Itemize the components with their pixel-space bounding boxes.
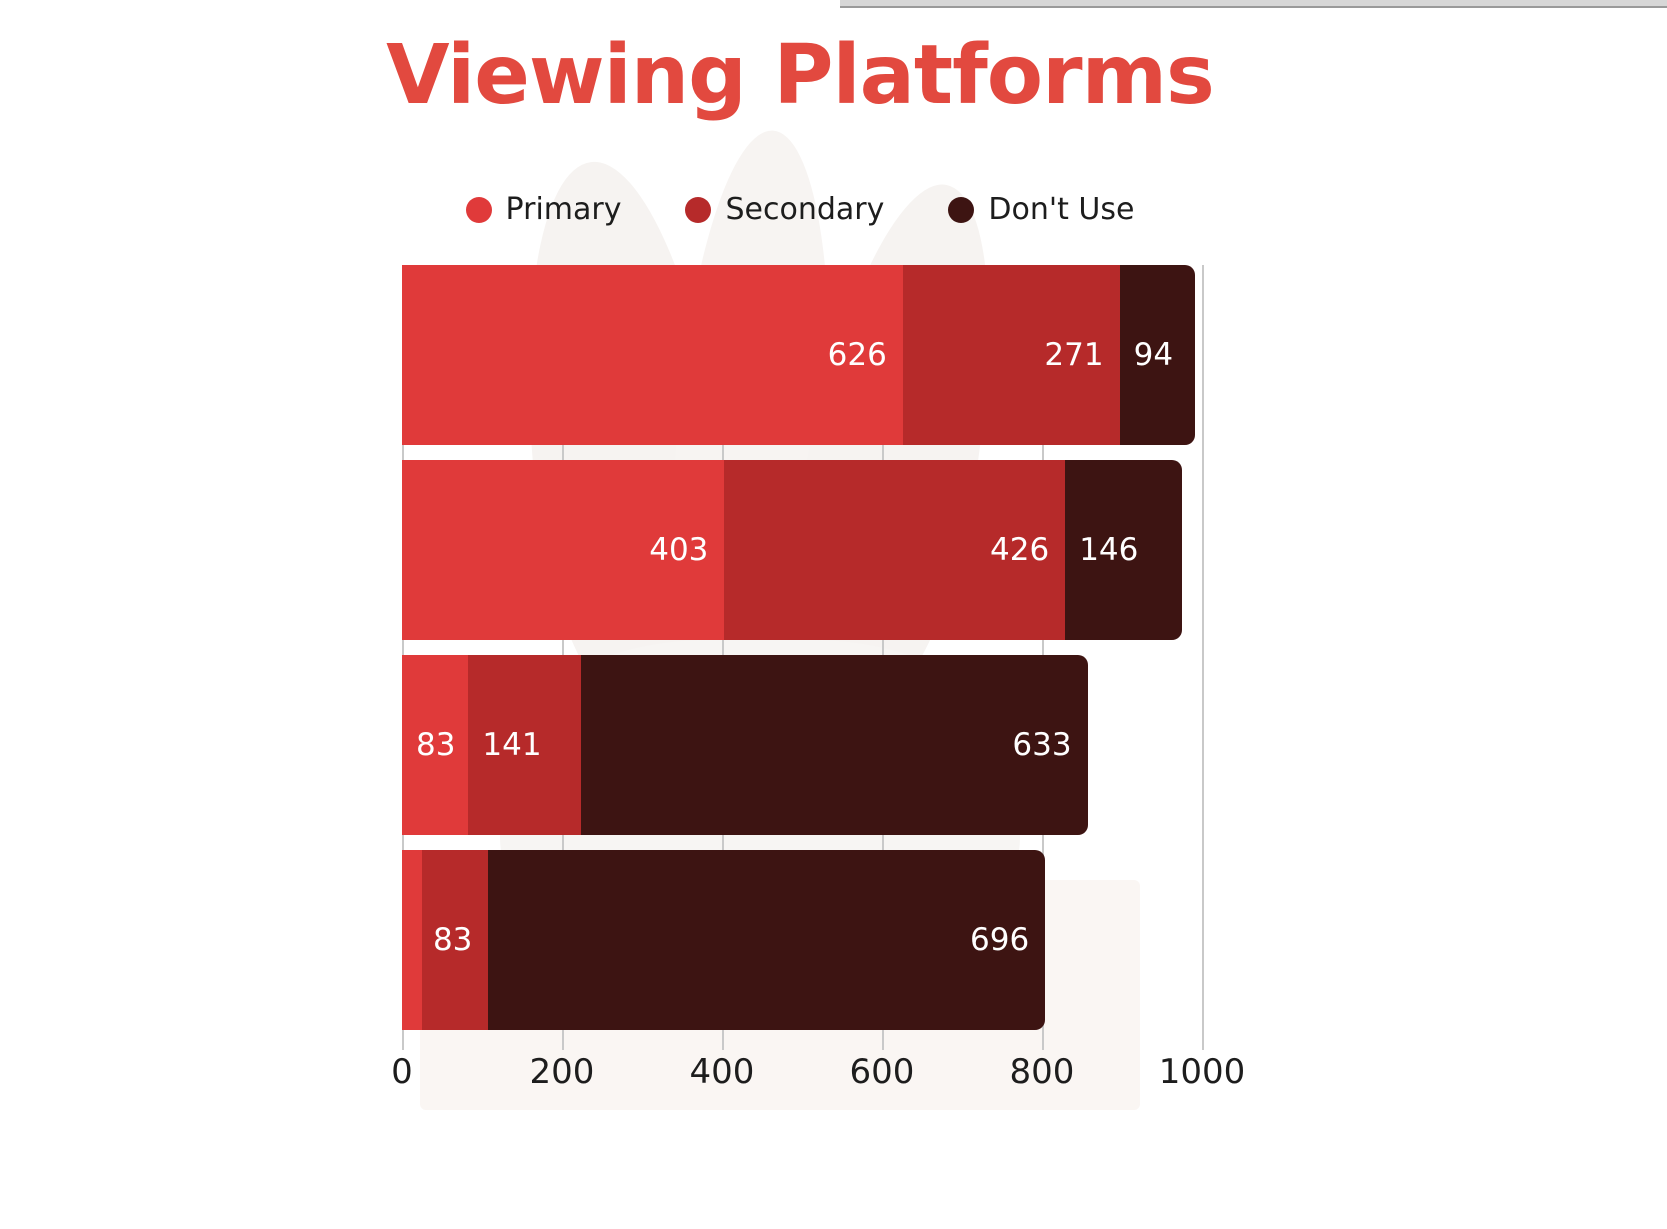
x-axis-tick-label: 0 <box>391 1052 413 1092</box>
bar-segment-secondary[interactable]: 271 <box>903 265 1120 445</box>
bar-segment-don-t-use[interactable]: 696 <box>488 850 1045 1030</box>
bar-value-label: 141 <box>468 727 541 763</box>
x-axis-tick-label: 200 <box>530 1052 595 1092</box>
legend-label: Don't Use <box>988 192 1134 227</box>
plot-area: 62627194Desktop403426146Mobile83141633Ta… <box>402 265 1202 1050</box>
legend-label: Primary <box>506 192 622 227</box>
bar-row-mobile[interactable]: 403426146 <box>402 460 1202 640</box>
bar-value-label: 696 <box>970 922 1045 958</box>
chart-title: Viewing Platforms <box>0 28 1600 123</box>
legend-item-secondary[interactable]: Secondary <box>685 192 884 227</box>
bar-row-vr[interactable]: 83696 <box>402 850 1202 1030</box>
bar-segment-don-t-use[interactable]: 146 <box>1065 460 1182 640</box>
bar-segment-primary[interactable]: 403 <box>402 460 724 640</box>
circle-dot-icon <box>685 197 711 223</box>
bar-row-desktop[interactable]: 62627194 <box>402 265 1202 445</box>
bar-segment-secondary[interactable]: 141 <box>468 655 581 835</box>
x-axis-tick-label: 600 <box>850 1052 915 1092</box>
chart-container: Viewing Platforms PrimarySecondaryDon't … <box>0 0 1667 1229</box>
gridline <box>1202 265 1204 1050</box>
chart-legend: PrimarySecondaryDon't Use <box>0 192 1600 227</box>
circle-dot-icon <box>948 197 974 223</box>
legend-label: Secondary <box>725 192 884 227</box>
bar-value-label: 83 <box>402 727 455 763</box>
legend-item-don-t-use[interactable]: Don't Use <box>948 192 1134 227</box>
bar-value-label: 403 <box>649 532 724 568</box>
bar-segment-primary[interactable]: 83 <box>402 655 468 835</box>
x-axis-tick-label: 1000 <box>1159 1052 1246 1092</box>
circle-dot-icon <box>466 197 492 223</box>
bar-segment-primary[interactable] <box>402 850 422 1030</box>
bar-segment-primary[interactable]: 626 <box>402 265 903 445</box>
bar-value-label: 94 <box>1120 337 1173 373</box>
bar-row-tablet[interactable]: 83141633 <box>402 655 1202 835</box>
x-axis-tick-label: 400 <box>690 1052 755 1092</box>
bar-value-label: 146 <box>1065 532 1138 568</box>
bar-value-label: 83 <box>433 922 488 958</box>
x-axis-tick-label: 800 <box>1010 1052 1075 1092</box>
bar-segment-don-t-use[interactable]: 94 <box>1120 265 1195 445</box>
bar-segment-secondary[interactable]: 426 <box>724 460 1065 640</box>
x-axis: 02004006008001000 <box>402 1052 1202 1112</box>
bar-segment-secondary[interactable]: 83 <box>422 850 488 1030</box>
bar-value-label: 626 <box>828 337 903 373</box>
bar-value-label: 426 <box>990 532 1065 568</box>
bar-value-label: 271 <box>1044 337 1119 373</box>
bar-value-label: 633 <box>1012 727 1087 763</box>
bar-segment-don-t-use[interactable]: 633 <box>581 655 1087 835</box>
legend-item-primary[interactable]: Primary <box>466 192 622 227</box>
